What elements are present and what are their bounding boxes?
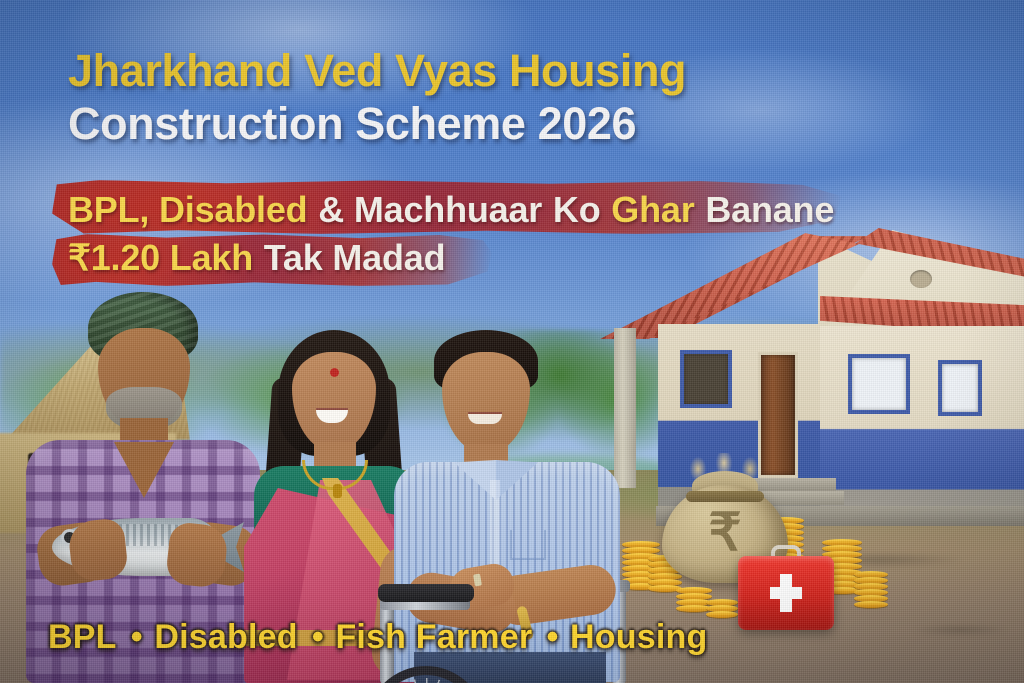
tagline-bar: BPL•Disabled•Fish Farmer•Housing: [48, 618, 718, 657]
bindi-icon: [330, 368, 339, 377]
headline-block: Jharkhand Ved Vyas Housing Construction …: [68, 44, 686, 150]
gable-vent: [910, 270, 932, 288]
page-title-line1: Jharkhand Ved Vyas Housing: [68, 44, 686, 97]
man-smile: [468, 414, 502, 424]
first-aid-kit-body: [738, 556, 834, 630]
tagline-item-disabled: Disabled: [154, 618, 297, 656]
subtitle-and-fisherman: & Machhuaar: [318, 189, 542, 230]
medical-cross-icon: [770, 574, 802, 612]
wheelchair-armrest-pad: [378, 584, 474, 602]
tagline-item-bpl: BPL: [48, 618, 117, 656]
tagline-item-fish-farmer: Fish Farmer: [335, 618, 532, 656]
first-aid-kit: [738, 556, 834, 630]
man-face: [442, 352, 530, 454]
coin-stack: [854, 572, 888, 608]
bullet-icon: •: [542, 618, 562, 656]
rupee-symbol-icon: ₹: [662, 507, 788, 559]
scheme-promo-poster: ₹: [0, 0, 1024, 683]
bullet-icon: •: [127, 618, 147, 656]
subtitle-beneficiaries: BPL, Disabled: [68, 189, 307, 230]
house-window-sliding: [848, 354, 910, 414]
fisherman-left-hand: [67, 517, 129, 583]
subtitle-block: BPL, Disabled& MachhuaarKoGharBanane ₹1.…: [68, 186, 845, 281]
house-window-barred: [680, 350, 732, 408]
subtitle-amount: ₹1.20 Lakh: [68, 237, 253, 278]
subtitle-ghar: Ghar: [611, 189, 694, 230]
bullet-icon: •: [308, 618, 328, 656]
shirt-pocket: [510, 530, 546, 560]
house-window-small: [938, 360, 982, 416]
subtitle-line2: ₹1.20 LakhTak Madad: [68, 234, 845, 282]
page-title-line2: Construction Scheme 2026: [68, 97, 686, 150]
money-bag-tie: [686, 491, 764, 502]
subtitle-tak-madad: Tak Madad: [264, 237, 446, 278]
coin-stack: [706, 600, 738, 618]
subtitle-banane: Banane: [705, 189, 834, 230]
subtitle-ko: Ko: [553, 189, 601, 230]
tagline-item-housing: Housing: [570, 618, 707, 656]
subtitle-line1: BPL, Disabled& MachhuaarKoGharBanane: [68, 186, 845, 234]
